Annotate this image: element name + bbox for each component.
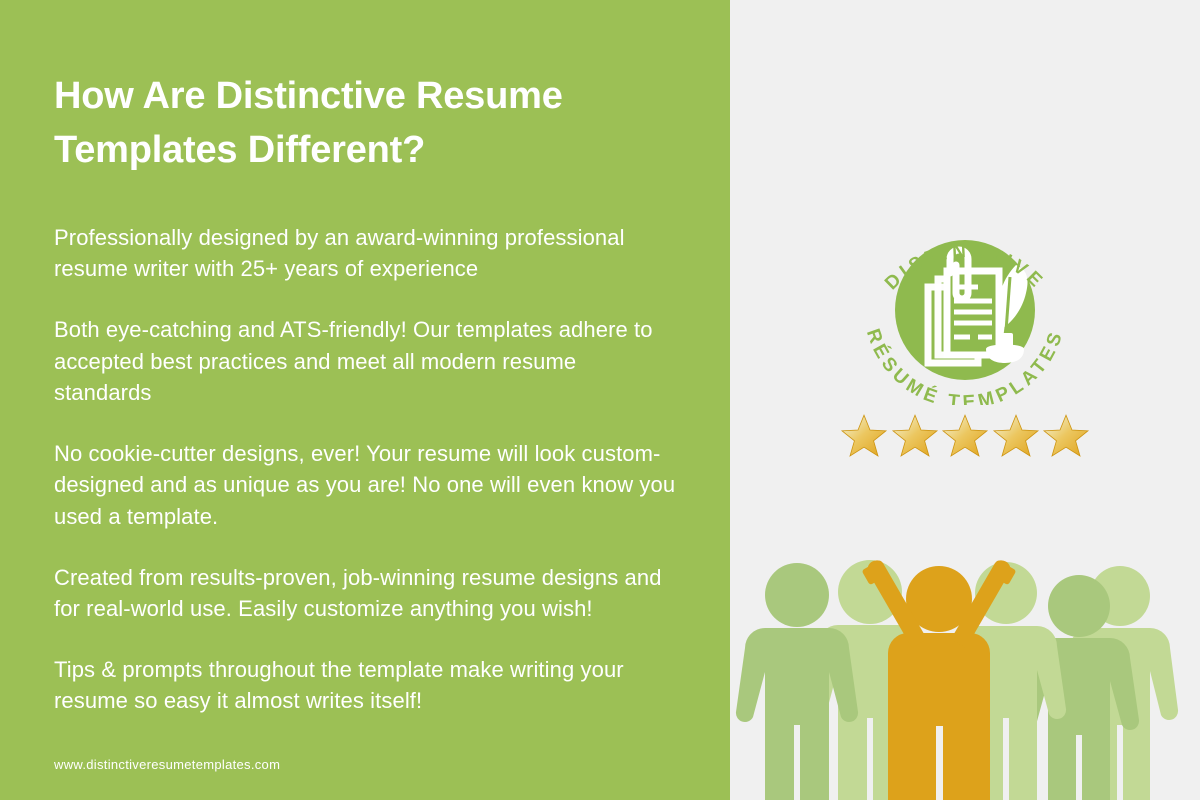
star-icon <box>840 412 888 460</box>
star-rating <box>840 412 1090 460</box>
people-group-illustration <box>730 530 1200 800</box>
list-item: Tips & prompts throughout the template m… <box>54 654 676 716</box>
right-brand-panel: DISTINCTIVE RÉSUMÉ TEMPLATES <box>730 0 1200 800</box>
star-icon <box>1042 412 1090 460</box>
website-url[interactable]: www.distinctiveresumetemplates.com <box>54 757 280 772</box>
brand-logo: DISTINCTIVE RÉSUMÉ TEMPLATES <box>850 215 1080 405</box>
list-item: No cookie-cutter designs, ever! Your res… <box>54 438 676 532</box>
page-title: How Are Distinctive Resume Templates Dif… <box>54 70 654 178</box>
list-item: Both eye-catching and ATS-friendly! Our … <box>54 314 676 408</box>
star-icon <box>891 412 939 460</box>
list-item: Created from results-proven, job-winning… <box>54 562 676 624</box>
left-content-panel: How Are Distinctive Resume Templates Dif… <box>0 0 730 800</box>
list-item: Professionally designed by an award-winn… <box>54 222 676 284</box>
star-icon <box>992 412 1040 460</box>
star-icon <box>941 412 989 460</box>
poster-root: How Are Distinctive Resume Templates Dif… <box>0 0 1200 800</box>
benefits-list: Professionally designed by an award-winn… <box>54 222 676 717</box>
